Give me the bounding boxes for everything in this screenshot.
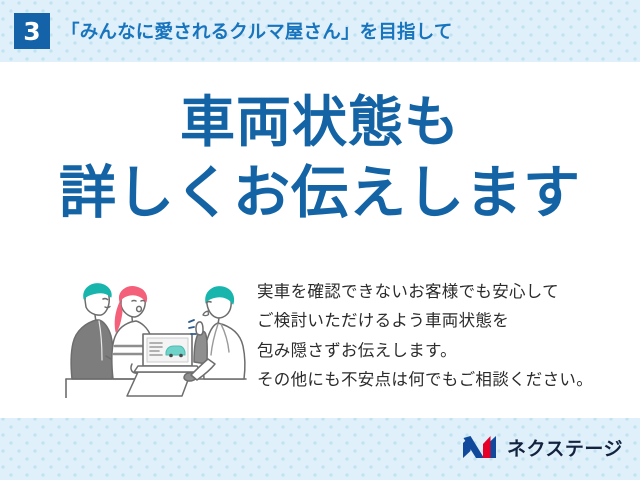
- body-copy-line-1: 実車を確認できないお客様でも安心して: [257, 277, 640, 306]
- headline-line-1: 車両状態も: [0, 92, 640, 154]
- body-copy-line-3: 包み隠さずお伝えします。: [257, 336, 640, 365]
- nextage-n-logo-icon: [462, 434, 498, 460]
- promo-banner: 3 「みんなに愛されるクルマ屋さん」を目指して 車両状態も 詳しくお伝えします: [0, 0, 640, 480]
- headline-line-2: 詳しくお伝えします: [0, 162, 640, 226]
- step-number-badge: 3: [14, 13, 50, 49]
- body-copy-line-4: その他にも不安点は何でもご相談ください。: [257, 365, 640, 394]
- illustration-and-copy-row: 実車を確認できないお客様でも安心して ご検討いただけるよう車両状態を 包み隠さず…: [0, 274, 640, 404]
- consultation-illustration-icon: [58, 276, 253, 398]
- footer-band: ネクステージ: [0, 418, 640, 480]
- content-card: 車両状態も 詳しくお伝えします: [0, 62, 640, 418]
- header-title: 「みんなに愛されるクルマ屋さん」を目指して: [61, 18, 453, 44]
- header-band: 3 「みんなに愛されるクルマ屋さん」を目指して: [0, 0, 640, 62]
- page-title: 車両状態も 詳しくお伝えします: [0, 92, 640, 225]
- body-copy-line-2: ご検討いただけるよう車両状態を: [257, 306, 640, 335]
- body-copy: 実車を確認できないお客様でも安心して ご検討いただけるよう車両状態を 包み隠さず…: [257, 277, 640, 394]
- brand-name: ネクステージ: [507, 434, 623, 461]
- brand-logo: ネクステージ: [462, 432, 623, 462]
